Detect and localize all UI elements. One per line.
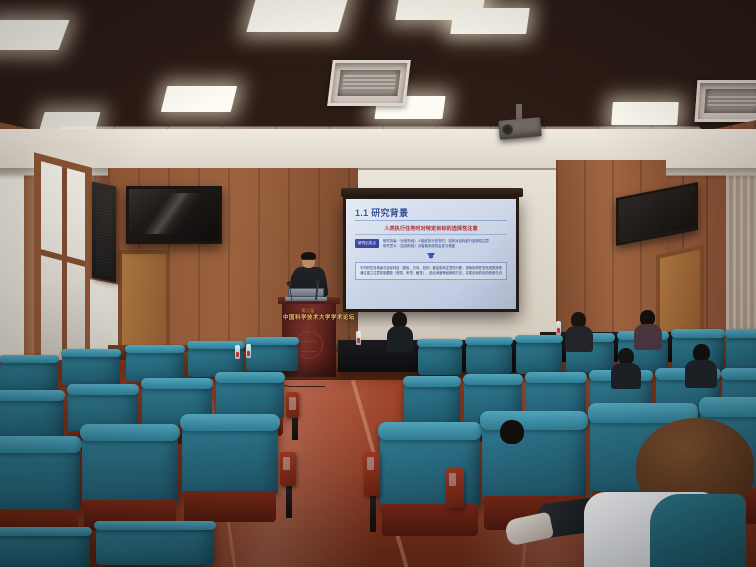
attendee-torso xyxy=(565,326,593,352)
water-bottle xyxy=(356,331,361,345)
seat-headrest xyxy=(480,411,588,430)
seat-backrest xyxy=(404,380,460,426)
panel-light-3 xyxy=(450,8,530,34)
panel-light-1 xyxy=(246,0,349,32)
seat-headrest xyxy=(141,378,214,389)
seat-leg xyxy=(292,416,298,440)
projection-screen-surface: 1.1 研究背景 人类执行任务时对特定目标的选择性注意 研究出发点 研究背景:（… xyxy=(346,199,516,309)
seat-headrest xyxy=(515,335,563,343)
slide-bullet-list: 研究背景:（分析阶段）人脑在执行任务时，如何对目标进行选择性注意 研究意义:（应… xyxy=(383,239,507,250)
seat-headrest xyxy=(67,384,140,395)
seat-headrest xyxy=(0,390,65,401)
slide-tag-label: 研究出发点 xyxy=(355,239,379,248)
seat-headrest xyxy=(0,436,82,452)
seat-headrest xyxy=(525,372,587,383)
seat-armrest xyxy=(286,392,299,418)
seat-frame xyxy=(382,504,478,536)
seat-headrest xyxy=(465,337,513,345)
seat-headrest xyxy=(180,414,280,431)
seat-headrest xyxy=(699,397,756,417)
seat-backrest xyxy=(246,340,298,371)
slide-line: 研究意义:（应用阶段）对智能系统的启发与借鉴 xyxy=(383,244,507,249)
slide-title: 1.1 研究背景 xyxy=(355,206,507,221)
attendee-torso xyxy=(387,326,413,352)
seat-leg xyxy=(286,484,292,518)
seat-headrest xyxy=(725,329,756,338)
seat-backrest xyxy=(182,420,278,495)
ac-vent-right xyxy=(695,80,756,122)
seat-headrest xyxy=(463,374,523,385)
foreground-attendee-shoulder xyxy=(650,494,746,567)
water-bottle xyxy=(235,345,240,359)
window-left xyxy=(34,152,92,383)
glasses-icon xyxy=(302,259,315,263)
seat-backrest xyxy=(0,394,64,440)
seat-headrest xyxy=(80,424,180,441)
seat[interactable] xyxy=(0,442,80,538)
seat-backrest xyxy=(82,430,178,504)
tv-screen-glare xyxy=(145,193,201,234)
seat-backrest xyxy=(0,358,58,394)
projector-lens-icon xyxy=(502,124,514,136)
seat-backrest xyxy=(726,332,756,372)
seat-headrest xyxy=(721,368,756,380)
seat[interactable] xyxy=(0,530,90,567)
seat-backrest xyxy=(516,338,562,374)
attendee-torso xyxy=(685,360,717,388)
seat-backrest xyxy=(0,442,80,513)
screen-roller-case xyxy=(341,188,523,197)
presentation-slide: 1.1 研究背景 人类执行任务时对特定目标的选择性注意 研究出发点 研究背景:（… xyxy=(346,199,516,309)
seat-headrest xyxy=(403,376,461,387)
seat-headrest xyxy=(0,355,59,363)
laptop-screen xyxy=(288,288,324,297)
attendee-torso xyxy=(634,324,662,350)
seat-headrest xyxy=(0,527,92,536)
slide-subtitle: 人类执行任务时对特定目标的选择性注意 xyxy=(355,225,507,235)
seat-backrest xyxy=(62,352,120,386)
seat-backrest xyxy=(380,428,480,508)
seat-armrest xyxy=(280,452,296,486)
seat[interactable] xyxy=(380,428,480,536)
seat-leg xyxy=(370,494,376,532)
panel-light-4 xyxy=(161,86,237,112)
seat-backrest xyxy=(126,348,184,382)
seat-backrest xyxy=(96,524,214,565)
lectern-line2: 中国科学技术大学学术论坛 xyxy=(283,313,333,321)
seat-headrest xyxy=(378,422,482,440)
seat-headrest xyxy=(245,337,299,344)
ceiling-projector xyxy=(498,117,541,140)
window-mullion-vertical xyxy=(62,167,67,369)
university-emblem-icon xyxy=(295,331,323,359)
seat-headrest xyxy=(215,372,286,382)
panel-light-8 xyxy=(39,112,100,130)
seat-headrest xyxy=(671,329,725,338)
seat[interactable] xyxy=(82,430,178,530)
ac-vent-center xyxy=(327,60,411,106)
projection-screen: 1.1 研究背景 人类执行任务时对特定目标的选择性注意 研究出发点 研究背景:（… xyxy=(343,196,519,312)
wall-tv-left[interactable] xyxy=(126,186,222,244)
panel-light-7 xyxy=(0,20,69,50)
slide-line: 通过建立注意机制模型（视觉、听觉、触觉），结合深度神经网络方法，实现目标的自动检… xyxy=(360,271,502,276)
slide-content-row: 研究出发点 研究背景:（分析阶段）人脑在执行任务时，如何对目标进行选择性注意 研… xyxy=(355,239,507,250)
slide-line: 不同的任务场景与目标特征（颜色、方向、形状）都会影响注意的分配，进而影响任务完成… xyxy=(360,266,502,271)
water-bottle xyxy=(246,344,251,358)
down-arrow-icon xyxy=(427,253,435,259)
seat-backrest xyxy=(0,530,90,567)
attendee-head xyxy=(500,420,524,444)
seat-backrest xyxy=(482,418,586,501)
conference-room-photo: 1.1 研究背景 人类执行任务时对特定目标的选择性注意 研究出发点 研究背景:（… xyxy=(0,0,756,567)
seat-backrest xyxy=(418,342,462,375)
seat-headrest xyxy=(417,339,463,346)
attendee-torso xyxy=(611,363,641,389)
seat-headrest xyxy=(94,521,217,531)
seat-armrest xyxy=(364,452,380,496)
seat-backrest xyxy=(466,340,512,374)
seat[interactable] xyxy=(182,420,278,522)
seat-headrest xyxy=(125,345,185,353)
seat-armrest xyxy=(446,468,464,508)
seat-frame xyxy=(184,491,276,522)
door-back-left[interactable] xyxy=(118,250,170,360)
water-bottle xyxy=(556,321,561,335)
seat[interactable] xyxy=(96,524,214,567)
seat-headrest xyxy=(61,349,121,357)
wall-speaker-left xyxy=(92,181,116,282)
slide-conclusion-box: 不同的任务场景与目标特征（颜色、方向、形状）都会影响注意的分配，进而影响任务完成… xyxy=(355,262,507,280)
panel-light-6 xyxy=(611,102,679,125)
